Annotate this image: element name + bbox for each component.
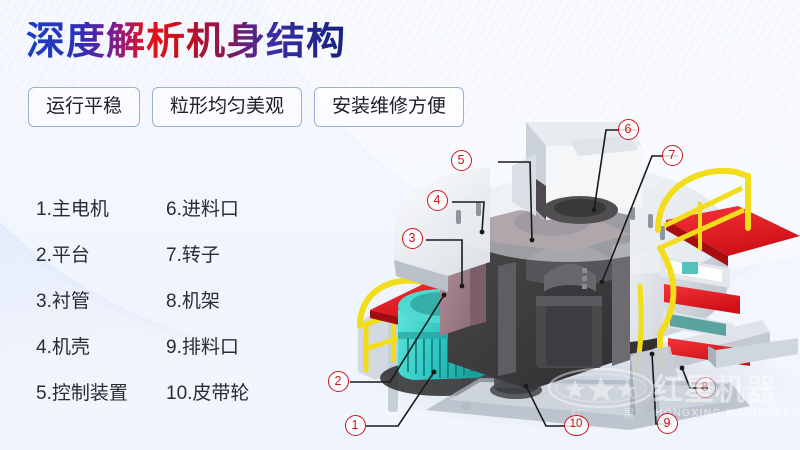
feature-tag-2: 粒形均匀美观 bbox=[152, 87, 302, 127]
callout-label: 7 bbox=[669, 149, 676, 162]
callout-marker-2: 2 bbox=[328, 371, 349, 392]
parts-legend-item: 7.转子 bbox=[166, 246, 306, 265]
promo-banner: 深度解析机身结构 运行平稳 粒形均匀美观 安装维修方便 1.主电机 6.进料口 … bbox=[0, 0, 800, 450]
callout-label: 6 bbox=[625, 123, 632, 136]
parts-legend-item: 10.皮带轮 bbox=[166, 384, 306, 403]
parts-legend-item: 4.机壳 bbox=[36, 338, 166, 357]
callout-label: 1 bbox=[352, 419, 359, 432]
parts-legend-list: 1.主电机 6.进料口 2.平台 7.转子 3.衬管 8.机架 4.机壳 9.排… bbox=[36, 186, 306, 416]
machine-cutaway-illustration bbox=[330, 110, 800, 450]
callout-label: 8 bbox=[702, 381, 709, 394]
callout-marker-4: 4 bbox=[427, 190, 448, 211]
parts-legend-item: 2.平台 bbox=[36, 246, 166, 265]
callout-label: 9 bbox=[664, 417, 671, 430]
callout-label: 10 bbox=[570, 419, 583, 431]
callout-marker-9: 9 bbox=[657, 413, 678, 434]
callout-label: 5 bbox=[458, 154, 465, 167]
page-title: 深度解析机身结构 bbox=[26, 22, 346, 61]
parts-legend-item: 9.排料口 bbox=[166, 338, 306, 357]
callout-marker-5: 5 bbox=[451, 150, 472, 171]
parts-legend-item: 1.主电机 bbox=[36, 200, 166, 219]
parts-legend-item: 5.控制装置 bbox=[36, 384, 166, 403]
callout-label: 3 bbox=[409, 232, 416, 245]
callout-marker-1: 1 bbox=[345, 415, 366, 436]
callout-marker-7: 7 bbox=[662, 145, 683, 166]
callout-label: 2 bbox=[335, 375, 342, 388]
callout-label: 4 bbox=[434, 194, 441, 207]
parts-legend-item: 6.进料口 bbox=[166, 200, 306, 219]
callout-marker-3: 3 bbox=[402, 228, 423, 249]
parts-legend-item: 8.机架 bbox=[166, 292, 306, 311]
callout-marker-10: 10 bbox=[564, 415, 589, 436]
callout-marker-6: 6 bbox=[618, 119, 639, 140]
feature-tag-1: 运行平稳 bbox=[28, 87, 140, 127]
callout-marker-8: 8 bbox=[695, 377, 716, 398]
parts-legend-item: 3.衬管 bbox=[36, 292, 166, 311]
